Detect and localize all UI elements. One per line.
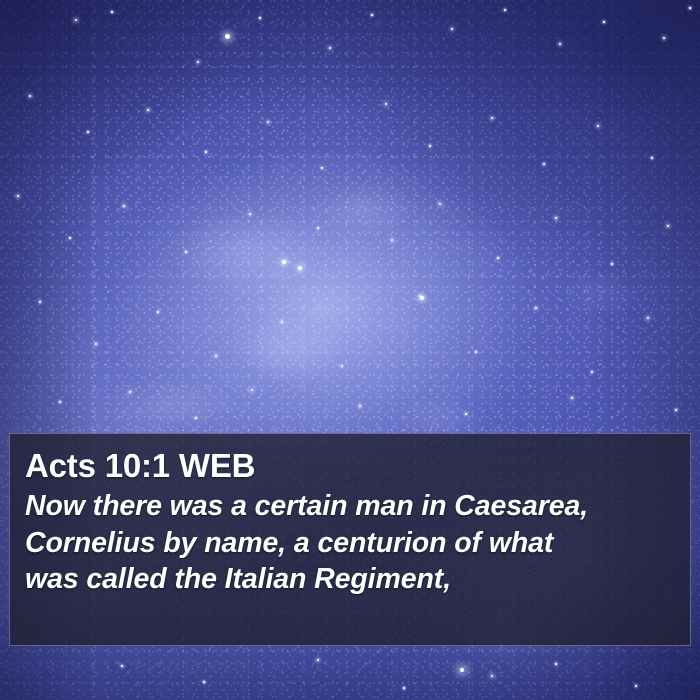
star	[491, 117, 493, 119]
star	[559, 43, 561, 45]
star	[571, 397, 573, 399]
star	[282, 260, 286, 264]
verse-line-1: Now there was a certain man in Caesarea,	[25, 488, 672, 525]
star	[123, 205, 125, 207]
star	[460, 668, 464, 672]
star	[281, 321, 283, 323]
star	[419, 295, 421, 297]
star	[451, 28, 453, 30]
verse-line-2: Cornelius by name, a centurion of what	[25, 525, 672, 562]
star	[267, 121, 269, 123]
star	[555, 663, 557, 665]
star	[197, 61, 199, 63]
star	[329, 47, 331, 49]
star	[429, 145, 431, 147]
star	[185, 251, 187, 253]
star	[491, 675, 493, 677]
star	[157, 311, 159, 313]
star	[225, 34, 230, 39]
star	[663, 37, 665, 39]
star	[504, 9, 506, 11]
star	[203, 681, 205, 683]
star	[259, 17, 261, 19]
star	[317, 659, 319, 661]
star	[465, 413, 467, 415]
star	[611, 263, 613, 265]
star	[321, 167, 323, 169]
star	[121, 665, 123, 667]
star	[59, 401, 61, 403]
star	[251, 389, 254, 392]
star	[391, 239, 393, 241]
star	[591, 371, 593, 373]
star	[195, 417, 197, 419]
verse-line-3: was called the Italian Regiment,	[25, 561, 672, 598]
star	[667, 225, 669, 227]
star	[29, 95, 31, 97]
star	[95, 343, 97, 345]
verse-reference: Acts 10:1 WEB	[25, 446, 672, 486]
star	[129, 391, 131, 393]
star	[249, 213, 251, 215]
star	[597, 125, 600, 128]
star	[439, 203, 442, 206]
star	[555, 217, 557, 219]
star	[603, 21, 605, 23]
star	[689, 7, 691, 9]
star	[497, 257, 499, 259]
verse-image-canvas: Acts 10:1 WEB Now there was a certain ma…	[0, 0, 700, 700]
star	[75, 19, 78, 22]
star	[147, 109, 149, 111]
star	[317, 227, 319, 229]
star	[635, 685, 637, 687]
star	[385, 103, 388, 106]
star	[475, 351, 477, 353]
verse-caption-panel: Acts 10:1 WEB Now there was a certain ma…	[9, 433, 691, 646]
star	[39, 301, 41, 303]
star	[215, 355, 217, 357]
star	[69, 237, 71, 239]
star	[359, 405, 361, 407]
star	[111, 11, 113, 13]
star	[651, 157, 653, 159]
verse-text: Now there was a certain man in Caesarea,…	[25, 488, 672, 598]
star	[535, 307, 537, 309]
star	[298, 266, 302, 270]
star	[420, 296, 423, 299]
star	[675, 409, 677, 411]
star	[205, 151, 207, 153]
star	[17, 195, 19, 197]
star	[371, 14, 373, 16]
star	[341, 365, 343, 367]
star	[647, 317, 649, 319]
star	[403, 687, 405, 689]
star	[543, 163, 545, 165]
star	[87, 131, 89, 133]
